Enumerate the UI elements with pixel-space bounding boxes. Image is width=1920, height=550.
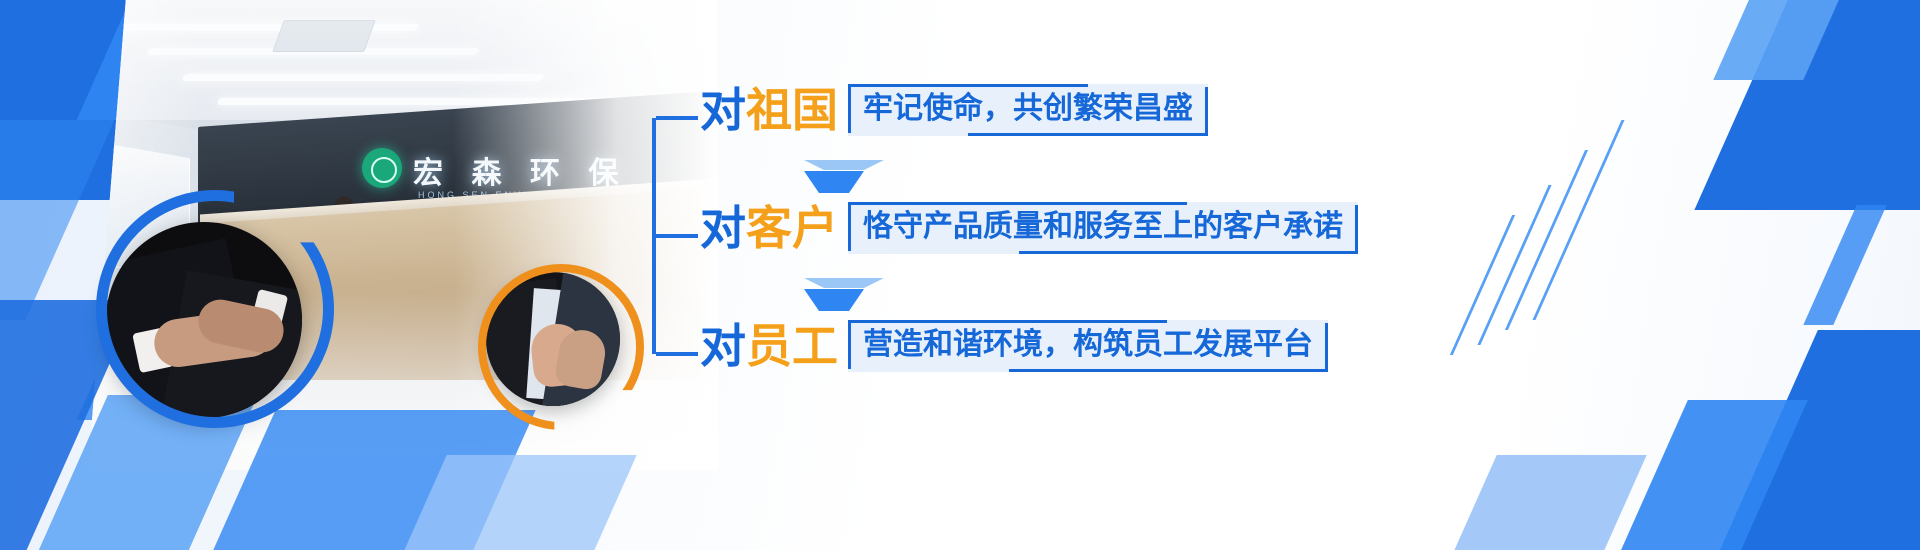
slogan-tag-customer: 恪守产品质量和服务至上的客户承诺 [848,202,1358,254]
slogan-lead-keyword: 员工 [746,319,838,373]
slogan-lead-country: 对祖国 [700,87,838,133]
slogan-block: 对祖国 牢记使命，共创繁荣昌盛 对客户 恪守产品质量和服务至上的客户承诺 对员工… [652,84,1412,384]
promo-banner: 宏 森 环 保 HONG SEN ENVIRONMENTAL [0,0,1920,550]
slogan-lead-keyword: 祖国 [746,83,838,137]
slogan-lead-customer: 对客户 [700,205,838,251]
slogan-lead-prefix: 对 [700,83,746,137]
slogan-row-country: 对祖国 牢记使命，共创繁荣昌盛 [700,84,1208,136]
slogan-row-employee: 对员工 营造和谐环境，构筑员工发展平台 [700,320,1328,372]
down-arrow-icon-top [804,278,884,288]
down-arrow-icon-bottom [804,171,864,193]
slogan-tag-country: 牢记使命，共创繁荣昌盛 [848,84,1208,136]
slogan-row-customer: 对客户 恪守产品质量和服务至上的客户承诺 [700,202,1358,254]
down-arrow-icon-top [804,160,884,170]
down-arrow-icon-bottom [804,289,864,311]
slogan-lead-prefix: 对 [700,201,746,255]
tree-connector [652,118,702,354]
slogan-lead-employee: 对员工 [700,323,838,369]
slogan-lead-keyword: 客户 [746,201,838,255]
slogan-lead-prefix: 对 [700,319,746,373]
down-arrow-2 [804,278,844,311]
down-arrow-1 [804,160,844,193]
slogan-tag-employee: 营造和谐环境，构筑员工发展平台 [848,320,1328,372]
